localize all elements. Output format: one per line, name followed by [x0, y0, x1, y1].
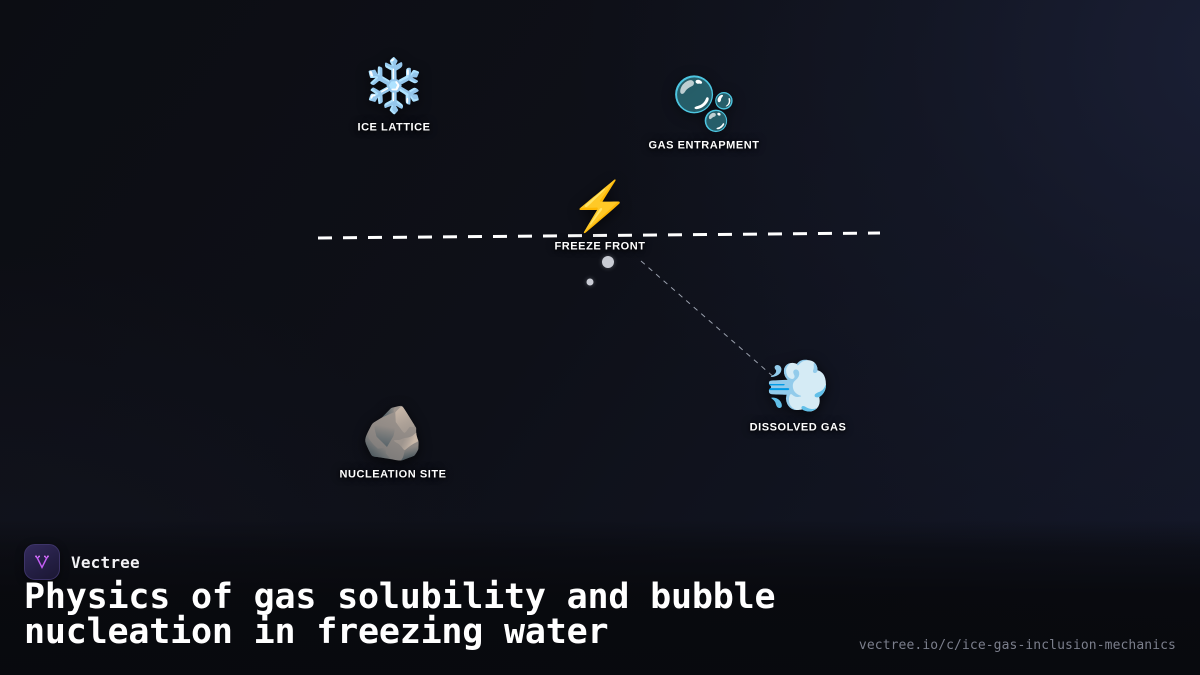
page-title: Physics of gas solubility and bubble nuc…	[24, 580, 775, 650]
vectree-mark-icon	[32, 552, 52, 572]
dashing-away-icon: 💨	[766, 361, 831, 413]
node-gas-entrapment[interactable]: 🫧 GAS ENTRAPMENT	[649, 79, 760, 152]
node-label-nucleation-site: NUCLEATION SITE	[339, 469, 446, 481]
snowflake-icon: ❄️	[362, 61, 427, 113]
brand-name: Vectree	[71, 553, 140, 572]
screenshot-root: ❄️ ICE LATTICE 🫧 GAS ENTRAPMENT ⚡ FREEZE…	[0, 0, 1200, 675]
node-dissolved-gas[interactable]: 💨 DISSOLVED GAS	[750, 361, 847, 434]
node-freeze-front[interactable]: ⚡ FREEZE FRONT	[555, 184, 646, 253]
node-label-ice-lattice: ICE LATTICE	[357, 122, 430, 134]
node-nucleation-site[interactable]: 🪨 NUCLEATION SITE	[339, 408, 446, 481]
marker-dot-upper[interactable]	[602, 256, 614, 268]
node-label-gas-entrapment: GAS ENTRAPMENT	[649, 140, 760, 152]
node-label-freeze-front: FREEZE FRONT	[555, 241, 646, 253]
node-label-dissolved-gas: DISSOLVED GAS	[750, 422, 847, 434]
bubbles-icon: 🫧	[672, 79, 737, 131]
vectree-logo-icon	[24, 544, 60, 580]
marker-dot-lower[interactable]	[587, 279, 594, 286]
rock-icon: 🪨	[361, 408, 426, 460]
page-url: vectree.io/c/ice-gas-inclusion-mechanics	[859, 638, 1176, 653]
lightning-bolt-icon: ⚡	[570, 184, 630, 232]
node-ice-lattice[interactable]: ❄️ ICE LATTICE	[357, 61, 430, 134]
footer-bar: Vectree Physics of gas solubility and bu…	[0, 520, 1200, 675]
brand-row[interactable]: Vectree	[24, 544, 140, 580]
